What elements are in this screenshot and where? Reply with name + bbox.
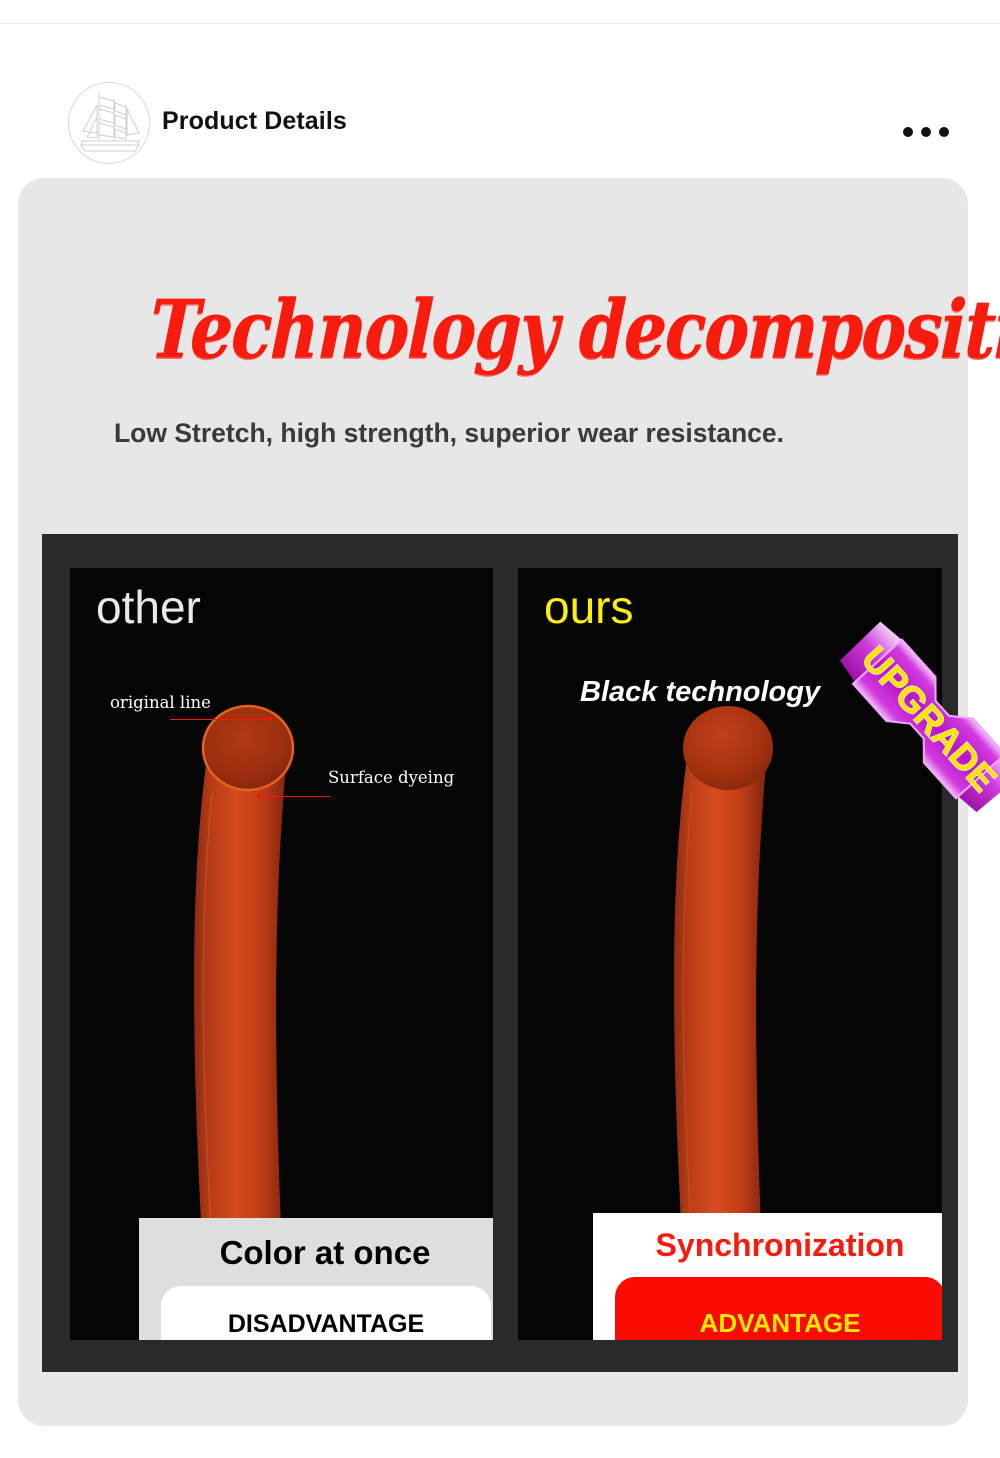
advantage-badge: ADVANTAGE <box>700 1308 861 1339</box>
comparison-panel-other: other <box>70 568 493 1340</box>
advantage-card-body: ADVANTAGE Stronger pull More wear resist… <box>615 1277 942 1340</box>
comparison-board: other <box>42 534 958 1372</box>
content-card: Technology decomposition Low Stretch, hi… <box>18 178 968 1426</box>
annotation-dot-2 <box>257 794 261 798</box>
disadvantage-card-heading: Color at once <box>139 1234 493 1272</box>
panel-label-other: other <box>96 584 201 630</box>
annotation-leader-line-1 <box>170 719 270 720</box>
hero-subtitle: Low Stretch, high strength, superior wea… <box>114 418 784 449</box>
page-header: Product Details <box>0 24 1000 178</box>
disadvantage-card-body: DISADVANTAGE Uneven coloring easy to fad… <box>161 1286 491 1340</box>
page-root: Product Details Technology decomposition… <box>0 0 1000 1458</box>
sailing-ship-icon <box>68 82 150 164</box>
annotation-dot-1 <box>268 717 272 721</box>
page-title: Product Details <box>162 107 347 136</box>
annotation-leader-line-2 <box>260 796 330 797</box>
annotation-surface-dyeing: Surface dyeing <box>328 768 454 787</box>
hero-title: Technology decomposition <box>148 282 1000 377</box>
advantage-card: Synchronization ADVANTAGE Stronger pull … <box>593 1213 942 1340</box>
advantage-card-heading: Synchronization <box>593 1227 942 1264</box>
disadvantage-card: Color at once DISADVANTAGE Uneven colori… <box>139 1218 493 1340</box>
disadvantage-badge: DISADVANTAGE <box>228 1310 424 1339</box>
annotation-original-line: original line <box>110 693 211 712</box>
panel-label-ours: ours <box>544 584 633 630</box>
more-horizontal-icon[interactable] <box>903 122 951 142</box>
